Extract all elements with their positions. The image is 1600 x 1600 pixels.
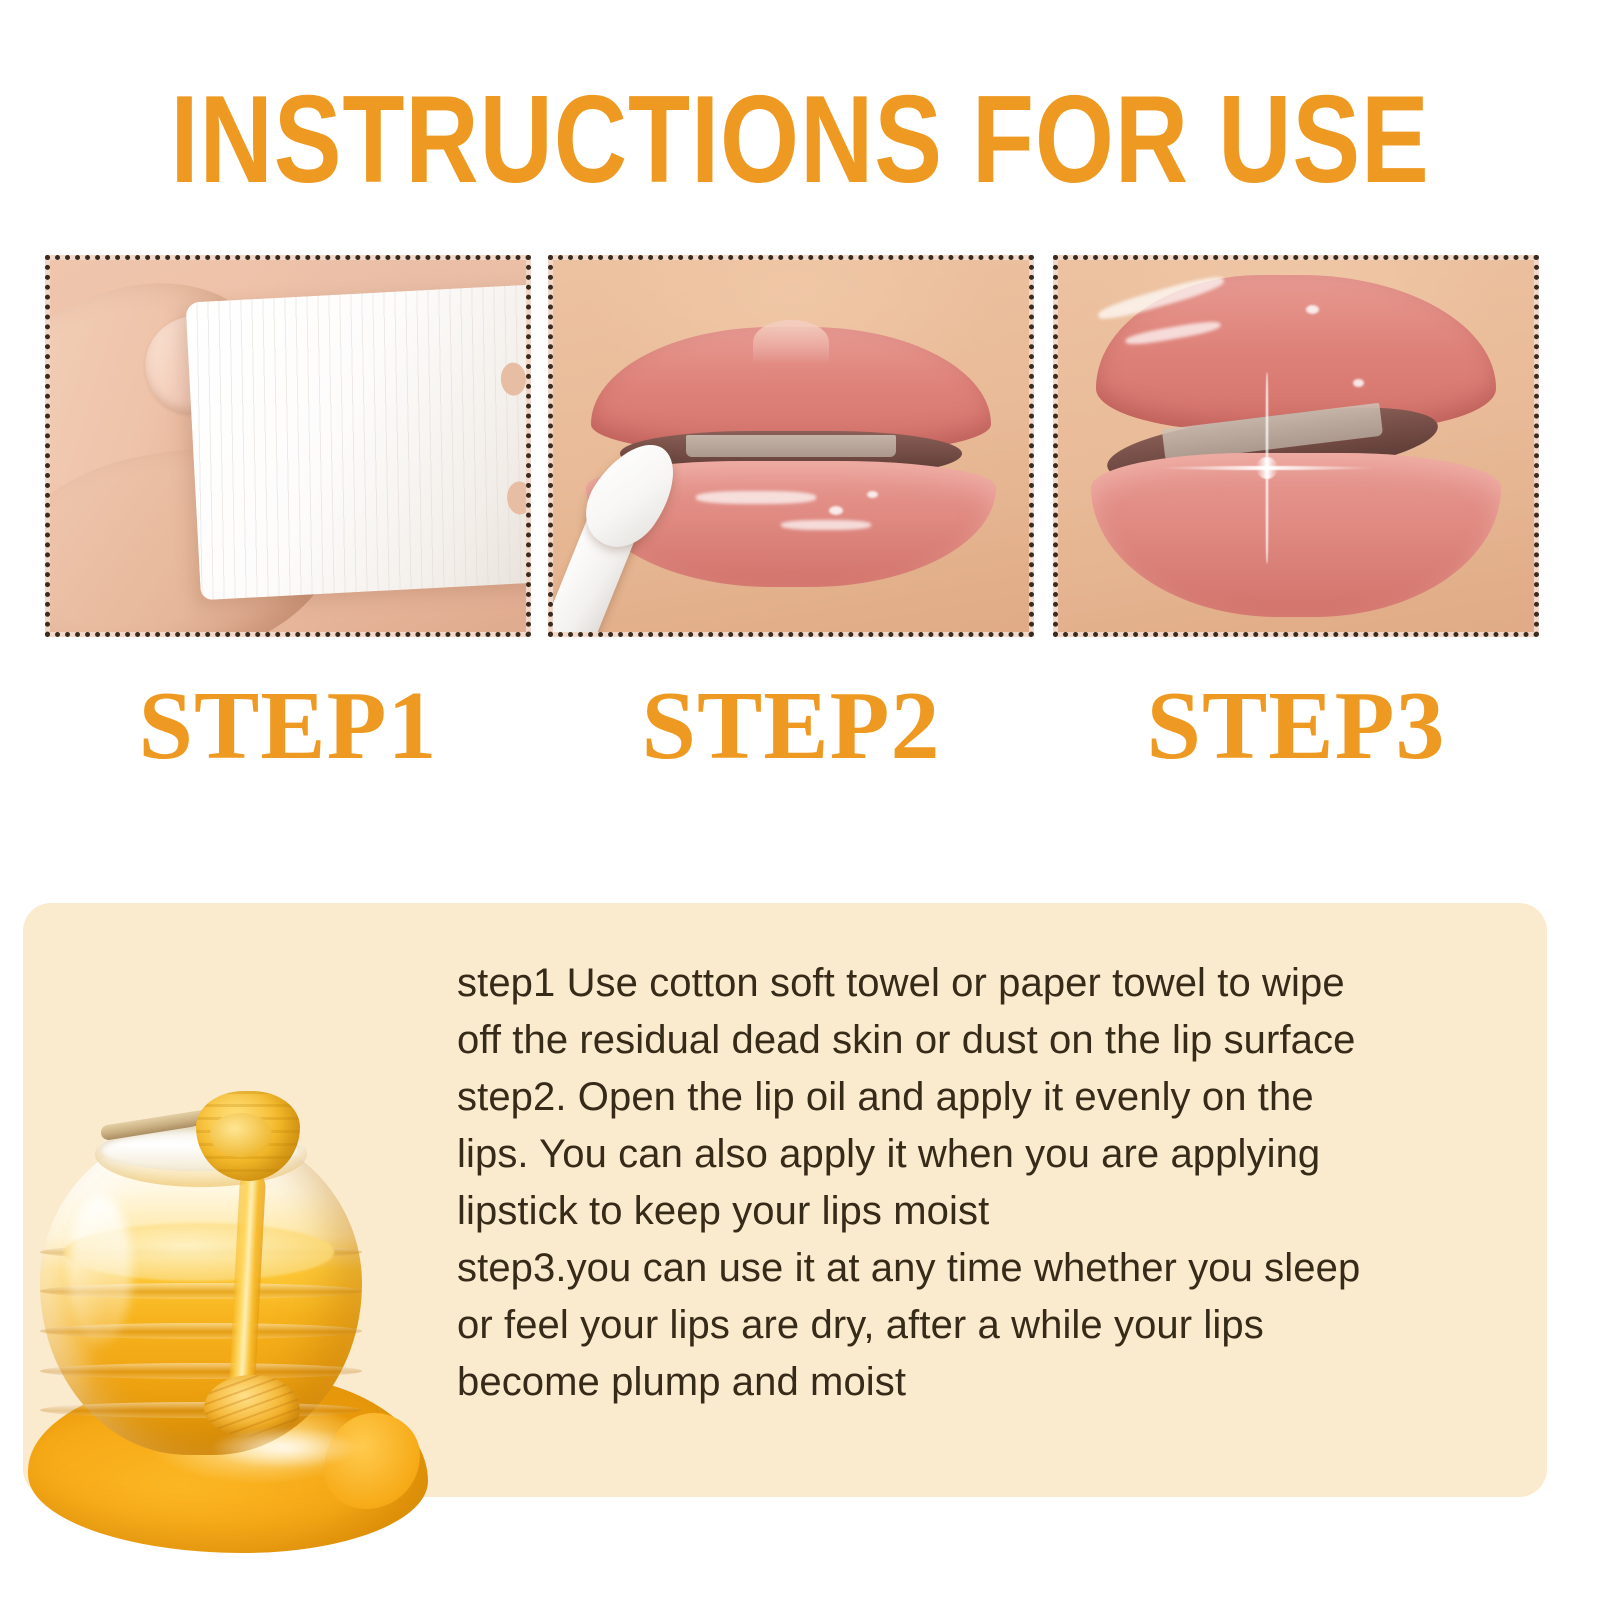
step1-cotton-pad-photo xyxy=(45,255,531,637)
honey-jar-with-dipper xyxy=(22,1075,442,1555)
photo-content-2 xyxy=(553,260,1029,632)
lip-gloss-spot xyxy=(867,491,878,498)
body-line: lipstick to keep your lips moist xyxy=(457,1183,1492,1240)
body-line: off the residual dead skin or dust on th… xyxy=(457,1012,1492,1069)
body-line: step3.you can use it at any time whether… xyxy=(457,1240,1492,1297)
step3-glossy-lips-photo xyxy=(1053,255,1539,637)
honey-puddle-shine xyxy=(210,1427,360,1469)
step3-label: STEP3 xyxy=(1053,670,1539,782)
photo-content-3 xyxy=(1058,260,1534,632)
body-line: step2. Open the lip oil and apply it eve… xyxy=(457,1069,1492,1126)
page-title: INSTRUCTIONS FOR USE xyxy=(144,78,1456,202)
step-labels-row: STEP1 STEP2 STEP3 xyxy=(0,670,1600,790)
cotton-pad-notch xyxy=(500,363,526,397)
body-line: step1 Use cotton soft towel or paper tow… xyxy=(457,955,1492,1012)
teeth xyxy=(686,435,895,457)
step1-label: STEP1 xyxy=(45,670,531,782)
cotton-pad xyxy=(185,284,526,600)
step-photos-row xyxy=(0,255,1600,645)
jar-ridge xyxy=(40,1363,362,1379)
cotton-pad-notch xyxy=(506,482,526,516)
lip-gloss-streak xyxy=(696,491,816,504)
body-line: lips. You can also apply it when you are… xyxy=(457,1126,1492,1183)
cupids-bow-highlight xyxy=(753,320,829,365)
lip-gloss-spot xyxy=(1306,305,1319,314)
lip-gloss-spot xyxy=(829,506,843,515)
instructions-body-text: step1 Use cotton soft towel or paper tow… xyxy=(457,955,1492,1411)
body-line: become plump and moist xyxy=(457,1354,1492,1411)
step2-apply-lip-oil-photo xyxy=(548,255,1034,637)
step2-label: STEP2 xyxy=(548,670,1034,782)
body-line: or feel your lips are dry, after a while… xyxy=(457,1297,1492,1354)
lip-gloss-streak xyxy=(781,520,871,530)
honey-dipper-knob xyxy=(210,1113,272,1157)
instructions-for-use-page: INSTRUCTIONS FOR USE xyxy=(0,0,1600,1600)
jar-glass-highlight xyxy=(68,1195,132,1345)
photo-content-1 xyxy=(50,260,526,632)
